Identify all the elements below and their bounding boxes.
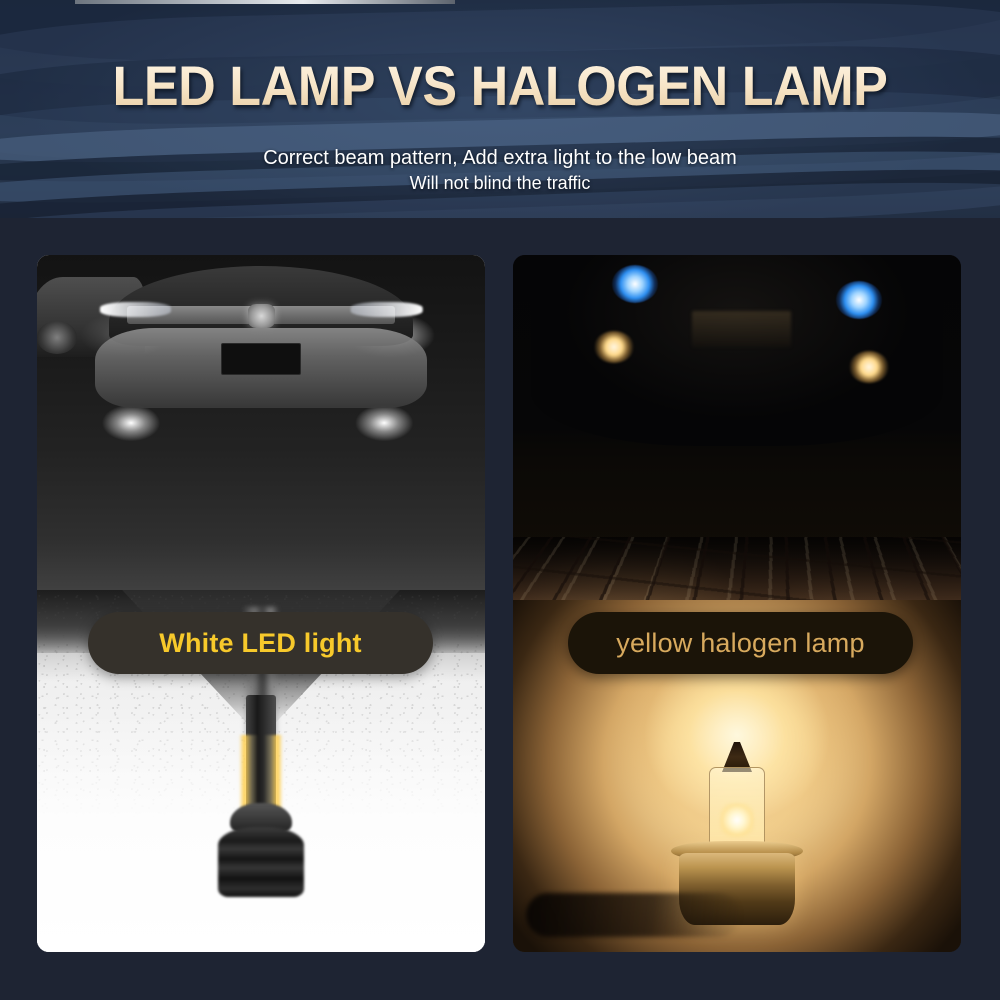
halogen-fog-light-left [594,331,634,363]
halogen-bulb-photo [513,855,961,952]
background-car-wheel [37,321,77,354]
label-pill-halogen-text: yellow halogen lamp [616,628,864,659]
license-plate-recess [221,343,302,376]
honda-badge-icon [248,304,275,328]
label-pill-halogen[interactable]: yellow halogen lamp [568,612,913,674]
led-headlight-left [100,302,172,317]
led-headlight-right [351,302,423,317]
halogen-fog-light-right [849,351,889,383]
subtitle-block: Correct beam pattern, Add extra light to… [0,145,1000,195]
license-plate-blur [692,311,791,347]
subtitle-line-2: Will not blind the traffic [0,171,1000,195]
dark-car-silhouette [531,255,943,446]
subtitle-line-1: Correct beam pattern, Add extra light to… [0,145,1000,171]
blue-accent-light-left [612,265,658,303]
blue-accent-light-right [836,281,882,319]
panel-halogen [513,255,961,952]
led-bulb-photo [37,855,485,952]
panel-led [37,255,485,952]
page-title: LED LAMP VS HALOGEN LAMP [35,58,965,114]
label-pill-led-text: White LED light [159,628,361,659]
halogen-night-photo [513,255,961,585]
led-night-photo [37,255,485,620]
product-comparison-page: LED LAMP VS HALOGEN LAMP Correct beam pa… [0,0,1000,1000]
halogen-beam-on-pavement [513,537,961,877]
top-edge-strip [75,0,455,4]
label-pill-led[interactable]: White LED light [88,612,433,674]
